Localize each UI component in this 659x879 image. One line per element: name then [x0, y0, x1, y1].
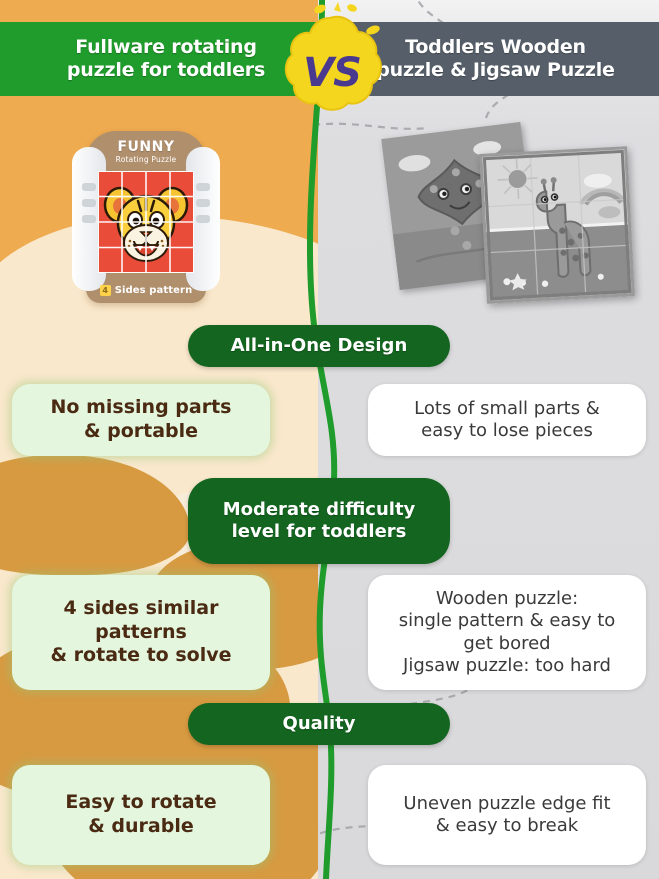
feature-label-quality: Quality	[188, 703, 450, 745]
con-box-all-in-one: Lots of small parts & easy to lose piece…	[368, 384, 646, 456]
feature-label-all-in-one: All-in-One Design	[188, 325, 450, 367]
header-right-title: Toddlers Wooden puzzle & Jigsaw Puzzle	[376, 36, 615, 82]
header-left-title: Fullware rotating puzzle for toddlers	[67, 36, 265, 82]
rotating-puzzle-toy-image: FUNNY Rotating Puzzle	[72, 131, 220, 303]
toy-brand-name: FUNNY	[86, 139, 206, 155]
toy-sides-label: Sides pattern	[115, 285, 193, 296]
con-box-difficulty: Wooden puzzle: single pattern & easy to …	[368, 575, 646, 690]
toy-brand-subtitle: Rotating Puzzle	[86, 155, 206, 164]
feature-label-difficulty: Moderate difficulty level for toddlers	[188, 478, 450, 564]
vs-badge: VS	[272, 2, 390, 122]
pro-box-all-in-one: No missing parts & portable	[12, 384, 270, 456]
vs-label: VS	[272, 2, 390, 122]
wooden-puzzles-image	[388, 118, 638, 308]
wooden-giraffe-puzzle	[479, 146, 635, 304]
toy-puzzle-grid	[98, 171, 194, 273]
giraffe-puzzle-icon	[482, 149, 631, 300]
toy-brand-block: FUNNY Rotating Puzzle	[86, 139, 206, 164]
pro-box-quality: Easy to rotate & durable	[12, 765, 270, 865]
left-amber-blob-a	[0, 455, 190, 575]
con-box-quality: Uneven puzzle edge fit & easy to break	[368, 765, 646, 865]
pro-box-difficulty: 4 sides similar patterns & rotate to sol…	[12, 575, 270, 690]
toy-sides-badge: 4	[100, 285, 111, 296]
infographic-canvas: Fullware rotating puzzle for toddlers To…	[0, 0, 659, 879]
toy-footer: 4 Sides pattern	[94, 285, 198, 296]
